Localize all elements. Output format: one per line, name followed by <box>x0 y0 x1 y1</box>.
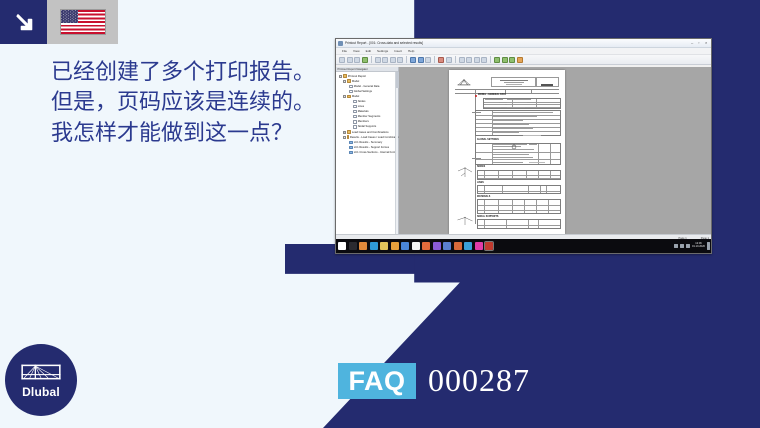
folder-icon <box>347 79 351 82</box>
report-page: MODEL - GENERAL DATA <box>449 70 565 234</box>
menu-item-help[interactable]: Help <box>408 49 414 53</box>
toolbar-separator-5 <box>490 56 491 63</box>
marker-dot <box>475 95 477 97</box>
tray-icon-chevron[interactable] <box>674 244 678 248</box>
tree-item-label: Lines <box>358 105 364 108</box>
toolbar-button-last-page[interactable] <box>397 57 403 63</box>
report-header-box <box>491 77 537 87</box>
document-icon <box>349 85 353 88</box>
taskbar-icon-app-4[interactable] <box>401 242 409 250</box>
folder-icon <box>347 130 351 133</box>
taskbar-icon-app-6[interactable] <box>422 242 430 250</box>
expand-icon[interactable]: − <box>343 80 346 83</box>
document-preview-pane[interactable]: MODEL - GENERAL DATA <box>399 67 712 241</box>
menu-item-insert[interactable]: Insert <box>394 49 402 53</box>
toolbar-button-save[interactable] <box>354 57 360 63</box>
faq-badge: FAQ <box>338 363 416 399</box>
printout-report-window: Printout Report - [001: Cross-data and s… <box>336 39 712 241</box>
taskbar-icon-app-10[interactable] <box>464 242 472 250</box>
windows-taskbar[interactable]: 12:06 01.10.2020 <box>336 239 712 253</box>
toolbar-separator-1 <box>371 56 372 63</box>
data-table <box>477 170 561 180</box>
dlubal-logo-text: Dlubal <box>22 385 60 399</box>
tree-item-label: Results - Load Cases / Load Combinations <box>350 136 401 139</box>
toolbar-button-zoom-in[interactable] <box>410 57 416 63</box>
menu-bar[interactable]: File View Edit Settings Insert Help <box>336 48 712 55</box>
tree-item-label: LC1 Cross-Sections - Internal Forces <box>354 151 398 154</box>
tree-item-label: LC1 Results - Summary <box>354 141 383 144</box>
tree-item-label: Global Settings <box>354 90 372 93</box>
structure-symbol-icon <box>456 78 472 88</box>
navigator-tree[interactable]: −Printout Report −Model Model - General … <box>336 72 398 155</box>
section-title: NODES <box>477 166 485 168</box>
minimize-icon[interactable]: – <box>691 41 695 45</box>
language-flag-tile[interactable] <box>47 0 118 44</box>
taskbar-icon-explorer[interactable] <box>380 242 388 250</box>
window-controls[interactable]: – ▫ × <box>691 41 711 45</box>
menu-item-view[interactable]: View <box>353 49 360 53</box>
toolbar-button-settings[interactable] <box>517 57 523 63</box>
expand-icon[interactable]: − <box>343 95 346 98</box>
tree-item-label: Nodes <box>358 100 366 103</box>
document-icon <box>349 90 353 93</box>
tree-item-label: Model - General Data <box>354 85 380 88</box>
tray-icon-network[interactable] <box>680 244 684 248</box>
tree-item-label: Nodal Supports <box>358 125 377 128</box>
window-title: Printout Report - [001: Cross-data and s… <box>345 41 423 45</box>
dlubal-bridge-icon <box>20 362 62 384</box>
data-table <box>477 199 561 214</box>
toolbar-button-zoom-out[interactable] <box>418 57 424 63</box>
application-screenshot: Printout Report - [001: Cross-data and s… <box>335 38 712 254</box>
section-title: NODAL SUPPORTS <box>477 216 498 218</box>
toolbar-button-prev-page[interactable] <box>382 57 388 63</box>
menu-item-settings[interactable]: Settings <box>377 49 388 53</box>
dlubal-logo: Dlubal <box>5 344 77 416</box>
toolbar-button-edit-1[interactable] <box>494 57 500 63</box>
question-text: 已经创建了多个打印报告。 但是，页码应该是连续的。 我怎样才能做到这一点？ <box>51 57 351 148</box>
blue-icon <box>349 146 353 149</box>
report-page-content: MODEL - GENERAL DATA <box>453 74 561 230</box>
data-table <box>477 219 561 229</box>
slide-canvas: 已经创建了多个打印报告。 但是，页码应该是连续的。 我怎样才能做到这一点？ Pr… <box>0 0 760 428</box>
menu-item-edit[interactable]: Edit <box>366 49 371 53</box>
printout-report-navigator[interactable]: Printout Report Navigator −Printout Repo… <box>336 67 399 241</box>
folder-icon <box>347 135 349 138</box>
taskbar-icon-app-1[interactable] <box>359 242 367 250</box>
taskbar-icon-search[interactable] <box>349 242 357 250</box>
show-desktop-button[interactable] <box>707 242 710 250</box>
gear-symbol-icon <box>511 144 517 150</box>
maximize-icon[interactable]: ▫ <box>698 41 702 45</box>
us-flag-icon <box>61 10 105 34</box>
taskbar-icon-app-9[interactable] <box>454 242 462 250</box>
clock-date: 01.10.2020 <box>692 246 705 249</box>
window-titlebar: Printout Report - [001: Cross-data and s… <box>336 39 712 48</box>
document-icon <box>353 105 357 108</box>
toolbar-button-next-page[interactable] <box>390 57 396 63</box>
document-icon <box>353 110 357 113</box>
expand-icon[interactable]: + <box>343 131 346 134</box>
toolbar-button-edit-3[interactable] <box>509 57 515 63</box>
taskbar-icon-app-2[interactable] <box>370 242 378 250</box>
tree-item-label: Members <box>358 120 369 123</box>
taskbar-icon-app-5[interactable] <box>412 242 420 250</box>
tree-item-label: Member Segments <box>358 115 381 118</box>
document-icon <box>353 125 357 128</box>
document-icon <box>353 100 357 103</box>
document-icon <box>353 115 357 118</box>
tree-item-label: Printout Report <box>348 75 366 78</box>
toolbar-button-export[interactable] <box>362 57 368 63</box>
supports-symbol-icon <box>456 216 474 228</box>
section-title: LINES <box>477 182 484 184</box>
tree-item[interactable]: LC1 Cross-Sections - Internal Forces <box>338 150 399 155</box>
toolbar-button-first-page[interactable] <box>375 57 381 63</box>
taskbar-icon-start[interactable] <box>338 242 346 250</box>
toolbar-separator-4 <box>455 56 456 63</box>
blue-icon <box>349 141 353 144</box>
taskbar-icon-app-7[interactable] <box>433 242 441 250</box>
toolbar-button-fit-page[interactable] <box>425 57 431 63</box>
toolbar-separator-3 <box>434 56 435 63</box>
toolbar-button-print[interactable] <box>438 57 444 63</box>
menu-item-file[interactable]: File <box>342 49 347 53</box>
expand-icon[interactable]: − <box>343 136 346 139</box>
tray-icon-volume[interactable] <box>686 244 690 248</box>
toolbar-button-new[interactable] <box>339 57 345 63</box>
tree-item-label: Materials <box>358 110 369 113</box>
tree-item-label: Model <box>352 95 359 98</box>
report-info-box <box>535 77 559 87</box>
tree-item-label: LC1 Results - Support Forces <box>354 146 389 149</box>
expand-icon[interactable]: − <box>339 75 342 78</box>
faq-number: 000287 <box>428 362 530 399</box>
taskbar-clock[interactable]: 12:06 01.10.2020 <box>692 243 705 249</box>
taskbar-icon-app-8[interactable] <box>443 242 451 250</box>
tree-item-label: Load Cases and Combinations <box>352 131 389 134</box>
navigator-scrollbar[interactable] <box>395 72 398 237</box>
taskbar-icon-active-app[interactable] <box>485 242 493 250</box>
close-icon[interactable]: × <box>705 41 709 45</box>
blue-icon <box>349 151 353 154</box>
section-title: MODEL - GENERAL DATA <box>478 94 506 96</box>
nodes-symbol-icon <box>456 166 474 180</box>
toolbar-button-print-preview[interactable] <box>446 57 452 63</box>
arrow-tile <box>0 0 47 44</box>
toolbar-button-open[interactable] <box>347 57 353 63</box>
toolbar-button-layout[interactable] <box>459 57 465 63</box>
section-title: MATERIALS <box>477 196 490 198</box>
taskbar-icon-app-11[interactable] <box>475 242 483 250</box>
system-tray[interactable]: 12:06 01.10.2020 <box>674 242 712 250</box>
document-icon <box>353 120 357 123</box>
toolbar-button-edit-2[interactable] <box>502 57 508 63</box>
toolbar[interactable] <box>336 55 712 65</box>
faq-badge-label: FAQ <box>348 366 405 397</box>
toolbar-separator-2 <box>406 56 407 63</box>
tree-item-label: Model <box>352 80 359 83</box>
app-icon <box>338 41 343 46</box>
work-area: Printout Report Navigator −Printout Repo… <box>336 67 712 241</box>
folder-icon <box>343 74 347 77</box>
toolbar-button-selection[interactable] <box>481 57 487 63</box>
folder-icon <box>347 95 351 98</box>
taskbar-icon-app-3[interactable] <box>391 242 399 250</box>
data-table <box>477 185 561 194</box>
toolbar-button-header-footer[interactable] <box>466 57 472 63</box>
arrow-down-right-icon <box>13 11 35 33</box>
section-title: GLOBAL SETTINGS <box>477 139 499 141</box>
toolbar-button-page-numbering[interactable] <box>474 57 480 63</box>
